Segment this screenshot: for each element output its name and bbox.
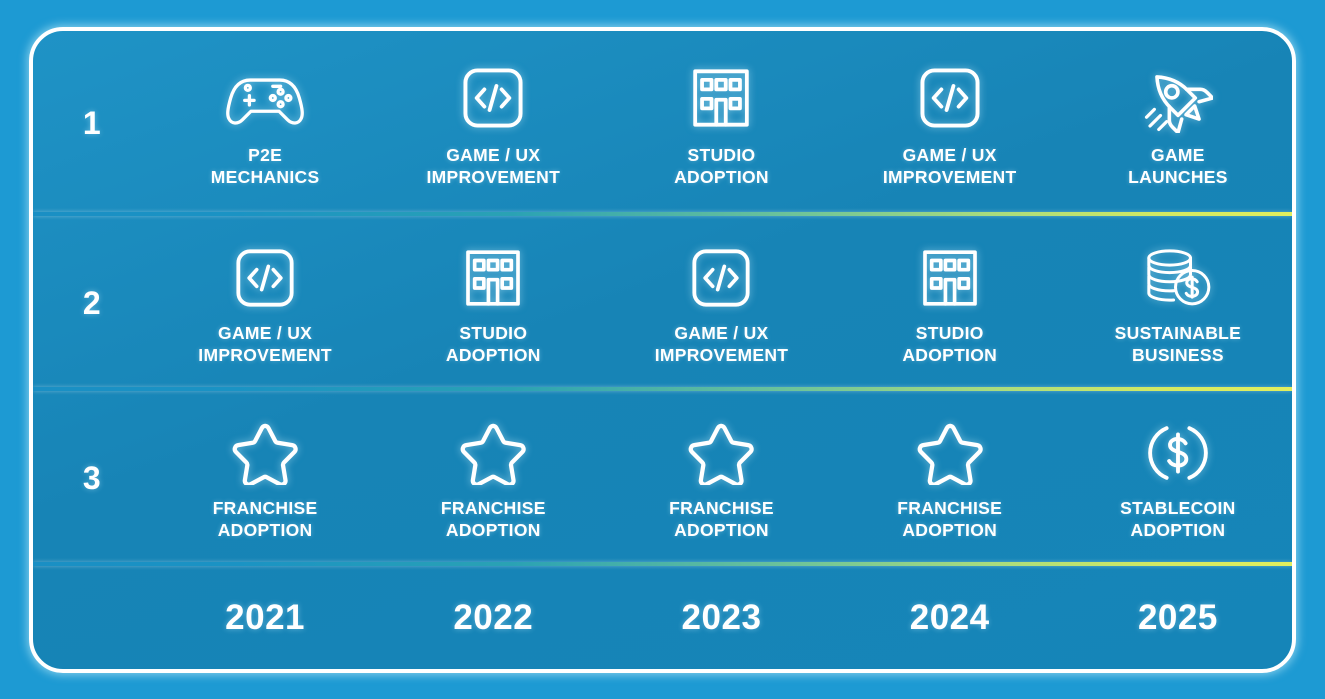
roadmap-cell-label: STUDIO ADOPTION — [446, 323, 541, 366]
roadmap-cell-r3c2[interactable]: FRANCHISE ADOPTION — [379, 391, 607, 566]
star-icon — [459, 416, 527, 490]
roadmap-cell-r1c5[interactable]: GAME LAUNCHES — [1064, 31, 1292, 216]
row-number-3: 3 — [33, 391, 151, 566]
roadmap-cell-label: GAME / UX IMPROVEMENT — [655, 323, 789, 366]
roadmap-panel: 1 P2E MECHANICS GAME / UX IMPROVEMENT — [29, 27, 1296, 673]
year-label: 2022 — [453, 598, 533, 638]
roadmap-cell-r3c5[interactable]: STABLECOIN ADOPTION — [1064, 391, 1292, 566]
year-label: 2025 — [1138, 598, 1218, 638]
roadmap-row-2: 2 GAME / UX IMPROVEMENT STUDIO ADOPTION — [33, 216, 1292, 391]
roadmap-grid: 1 P2E MECHANICS GAME / UX IMPROVEMENT — [33, 31, 1292, 669]
roadmap-row-3: 3 FRANCHISE ADOPTION FRANCHISE ADOPTION — [33, 391, 1292, 566]
building-icon — [920, 241, 980, 315]
row-number-2: 2 — [33, 216, 151, 391]
year-cell-2024[interactable]: 2024 — [836, 566, 1064, 669]
row-2-cells: GAME / UX IMPROVEMENT STUDIO ADOPTION GA… — [151, 216, 1292, 391]
gamepad-icon — [226, 59, 304, 137]
roadmap-cell-label: GAME / UX IMPROVEMENT — [883, 145, 1017, 188]
rocket-icon — [1143, 59, 1213, 137]
roadmap-cell-label: GAME / UX IMPROVEMENT — [426, 145, 560, 188]
roadmap-cell-label: STABLECOIN ADOPTION — [1120, 498, 1235, 541]
roadmap-cell-label: P2E MECHANICS — [211, 145, 320, 188]
roadmap-cell-r2c1[interactable]: GAME / UX IMPROVEMENT — [151, 216, 379, 391]
building-icon — [690, 59, 752, 137]
year-cell-2021[interactable]: 2021 — [151, 566, 379, 669]
roadmap-years-row: 2021 2022 2023 2024 2025 — [33, 566, 1292, 669]
building-icon — [463, 241, 523, 315]
row-3-cells: FRANCHISE ADOPTION FRANCHISE ADOPTION FR… — [151, 391, 1292, 566]
roadmap-cell-r1c1[interactable]: P2E MECHANICS — [151, 31, 379, 216]
roadmap-cell-label: STUDIO ADOPTION — [902, 323, 997, 366]
roadmap-cell-label: STUDIO ADOPTION — [674, 145, 769, 188]
roadmap-cell-r2c5[interactable]: SUSTAINABLE BUSINESS — [1064, 216, 1292, 391]
roadmap-cell-label: GAME / UX IMPROVEMENT — [198, 323, 332, 366]
roadmap-cell-label: SUSTAINABLE BUSINESS — [1115, 323, 1241, 366]
roadmap-cell-label: FRANCHISE ADOPTION — [897, 498, 1002, 541]
roadmap-cell-label: GAME LAUNCHES — [1128, 145, 1228, 188]
roadmap-cell-r1c4[interactable]: GAME / UX IMPROVEMENT — [836, 31, 1064, 216]
roadmap-cell-r3c3[interactable]: FRANCHISE ADOPTION — [607, 391, 835, 566]
years-gutter — [33, 566, 151, 669]
roadmap-cell-r3c4[interactable]: FRANCHISE ADOPTION — [836, 391, 1064, 566]
roadmap-cell-label: FRANCHISE ADOPTION — [213, 498, 318, 541]
roadmap-cell-label: FRANCHISE ADOPTION — [669, 498, 774, 541]
star-icon — [687, 416, 755, 490]
code-icon — [235, 241, 295, 315]
code-icon — [462, 59, 524, 137]
year-cell-2022[interactable]: 2022 — [379, 566, 607, 669]
years-cells: 2021 2022 2023 2024 2025 — [151, 566, 1292, 669]
year-label: 2021 — [225, 598, 305, 638]
roadmap-row-1: 1 P2E MECHANICS GAME / UX IMPROVEMENT — [33, 31, 1292, 216]
stablecoin-icon — [1146, 416, 1210, 490]
star-icon — [916, 416, 984, 490]
roadmap-cell-r2c3[interactable]: GAME / UX IMPROVEMENT — [607, 216, 835, 391]
roadmap-cell-r1c2[interactable]: GAME / UX IMPROVEMENT — [379, 31, 607, 216]
code-icon — [919, 59, 981, 137]
roadmap-cell-r2c4[interactable]: STUDIO ADOPTION — [836, 216, 1064, 391]
year-cell-2025[interactable]: 2025 — [1064, 566, 1292, 669]
year-label: 2023 — [682, 598, 762, 638]
roadmap-cell-label: FRANCHISE ADOPTION — [441, 498, 546, 541]
roadmap-cell-r1c3[interactable]: STUDIO ADOPTION — [607, 31, 835, 216]
code-icon — [691, 241, 751, 315]
row-number-1: 1 — [33, 31, 151, 216]
star-icon — [231, 416, 299, 490]
year-label: 2024 — [910, 598, 990, 638]
roadmap-cell-r3c1[interactable]: FRANCHISE ADOPTION — [151, 391, 379, 566]
coin-stack-icon — [1143, 241, 1213, 315]
row-1-cells: P2E MECHANICS GAME / UX IMPROVEMENT STUD… — [151, 31, 1292, 216]
year-cell-2023[interactable]: 2023 — [607, 566, 835, 669]
roadmap-cell-r2c2[interactable]: STUDIO ADOPTION — [379, 216, 607, 391]
